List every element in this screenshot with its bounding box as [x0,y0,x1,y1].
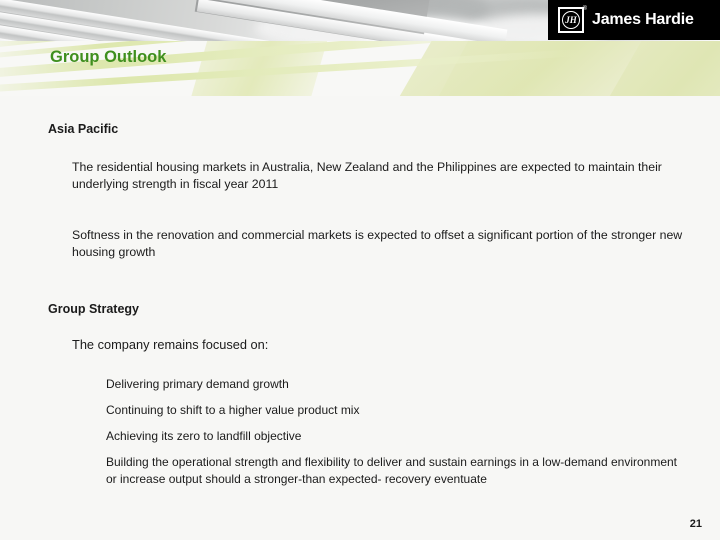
james-hardie-monogram-icon: JH ® [558,7,584,33]
slide-body: Asia Pacific The residential housing mar… [0,96,720,540]
sub-bullet-item: Achieving its zero to landfill objective [84,428,644,445]
sub-bullet-item: Continuing to shift to a higher value pr… [84,402,644,419]
page-title: Group Outlook [50,48,166,67]
bullet-text: Softness in the renovation and commercia… [72,227,688,260]
section-heading-asia-pacific: Asia Pacific [48,122,118,136]
section-heading-group-strategy: Group Strategy [48,302,139,316]
brand-logo: JH ® James Hardie [548,0,720,40]
registered-trademark-icon: ® [583,6,587,12]
slide: JH ® James Hardie Group Outlook Asia Pac… [0,0,720,540]
sub-bullet-text: Continuing to shift to a higher value pr… [106,402,359,419]
monogram-letters: JH [562,11,580,29]
page-number: 21 [690,518,702,530]
sub-bullet-text: Delivering primary demand growth [106,376,289,393]
bullet-text: The company remains focused on: [72,337,268,354]
header-banner: JH ® James Hardie Group Outlook [0,0,720,96]
brand-name: James Hardie [592,11,694,29]
sub-bullet-item: Building the operational strength and fl… [84,454,680,487]
sub-bullet-item: Delivering primary demand growth [84,376,644,393]
sub-bullet-text: Building the operational strength and fl… [106,454,680,487]
bullet-item: Softness in the renovation and commercia… [48,227,688,260]
bullet-item: The company remains focused on: [48,337,648,354]
sub-bullet-text: Achieving its zero to landfill objective [106,428,301,445]
bullet-item: The residential housing markets in Austr… [48,159,680,192]
bullet-text: The residential housing markets in Austr… [72,159,680,192]
